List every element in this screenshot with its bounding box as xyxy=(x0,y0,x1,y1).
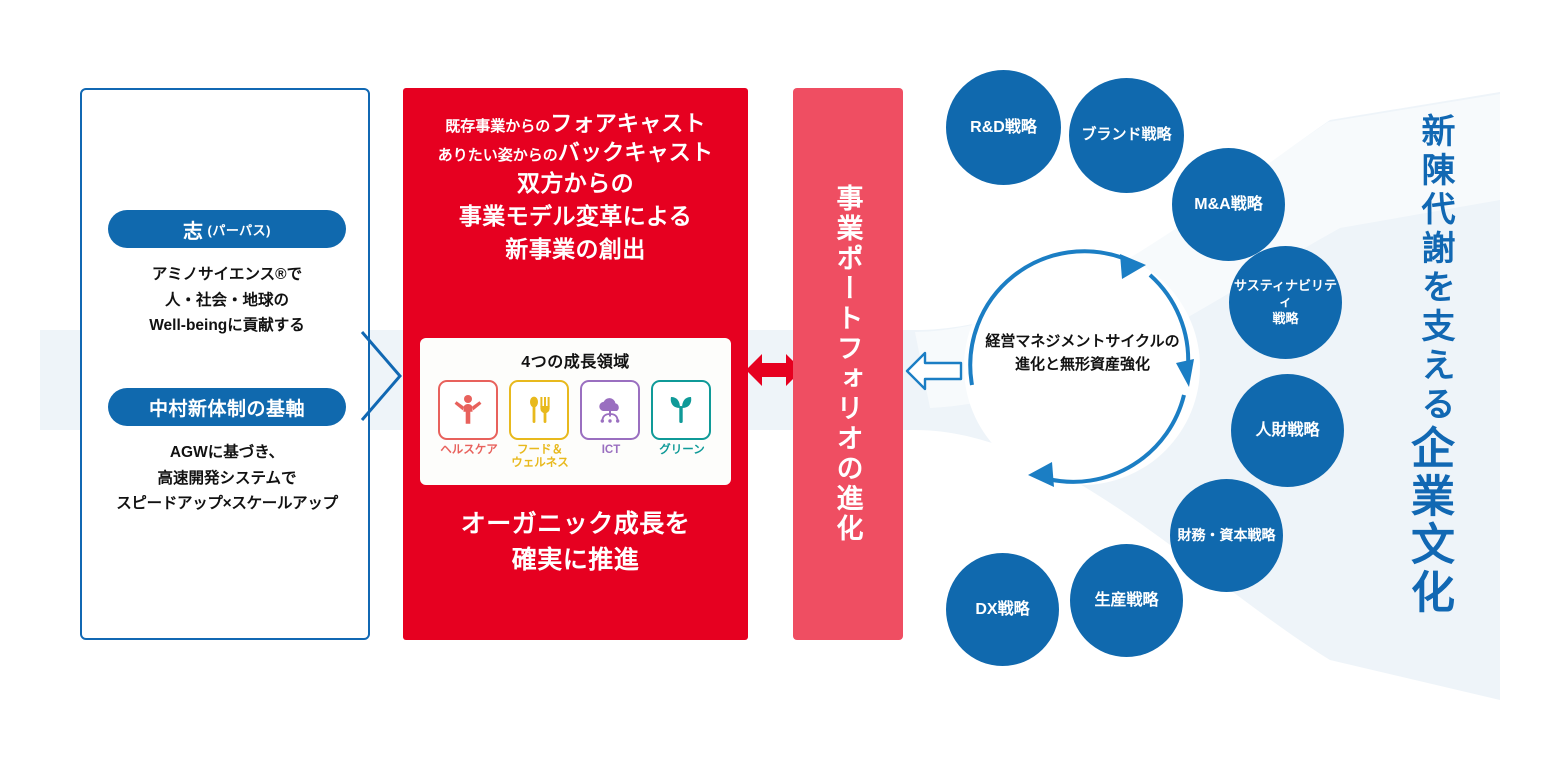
chevron-right-icon xyxy=(360,330,406,422)
strategy-circle-6[interactable]: 財務・資本戦略 xyxy=(1170,479,1283,592)
forecast-line: 既存事業からのフォアキャスト xyxy=(403,110,748,139)
forecast-backcast-block: 既存事業からのフォアキャスト ありたい姿からのバックキャスト 双方からの 事業モ… xyxy=(403,110,748,265)
backcast-line: ありたい姿からのバックキャスト xyxy=(403,139,748,168)
diagram-canvas: 志 (パーパス) アミノサイエンス®で 人・社会・地球の Well-beingに… xyxy=(0,0,1560,761)
strategy-circle-2-label: ブランド戦略 xyxy=(1081,126,1171,145)
policy-line-1: AGWに基づき、 xyxy=(90,440,364,466)
strategy-circle-1[interactable]: R&D戦略 xyxy=(946,70,1061,185)
healthcare-icon-box xyxy=(438,380,498,440)
organic-growth-line-1: オーガニック成長を xyxy=(403,506,748,542)
strategy-circle-3-label: M&A戦略 xyxy=(1194,195,1262,215)
strategy-circle-4-line-1: サスティナビリティ xyxy=(1229,278,1342,311)
ict-label: ICT xyxy=(580,444,642,457)
forecast-emphasis: フォアキャスト xyxy=(550,111,705,136)
forecast-normal: 既存事業からの xyxy=(445,118,550,135)
growth-area-healthcare[interactable]: ヘルスケア xyxy=(438,380,500,470)
growth-strategy-panel: 既存事業からのフォアキャスト ありたい姿からのバックキャスト 双方からの 事業モ… xyxy=(403,88,748,640)
management-cycle-label: 経営マネジメントサイクルの 進化と無形資産強化 xyxy=(950,330,1215,377)
food-label: フード＆ ウェルネス xyxy=(509,444,571,470)
green-icon-box xyxy=(651,380,711,440)
growth-areas-card: 4つの成長領域 ヘルスケア xyxy=(420,338,731,485)
cycle-line-1: 経営マネジメントサイクルの xyxy=(950,330,1215,353)
purpose-panel: 志 (パーパス) アミノサイエンス®で 人・社会・地球の Well-beingに… xyxy=(80,88,370,640)
strategy-circle-3[interactable]: M&A戦略 xyxy=(1172,148,1285,261)
corporate-culture-headline: 新陳代謝を支える 企業文化 xyxy=(1370,95,1460,635)
green-label: グリーン xyxy=(651,444,713,457)
purpose-pill-sub: (パーパス) xyxy=(207,220,271,239)
cycle-line-2: 進化と無形資産強化 xyxy=(950,353,1215,376)
healthcare-label: ヘルスケア xyxy=(438,444,500,457)
portfolio-evolution-label: 事業ポートフォリオの進化 xyxy=(793,88,903,640)
strategy-circle-7-label: 生産戦略 xyxy=(1094,591,1158,611)
strategy-circle-4-line-2: 戦略 xyxy=(1229,311,1342,327)
growth-areas-title: 4つの成長領域 xyxy=(420,338,731,372)
purpose-description: アミノサイエンス®で 人・社会・地球の Well-beingに貢献する xyxy=(90,262,364,339)
strategy-circle-4-label: サスティナビリティ戦略 xyxy=(1229,278,1342,327)
sprout-icon xyxy=(666,394,696,426)
headline-part-2: 企業文化 xyxy=(1396,425,1460,617)
organic-growth-block: オーガニック成長を 確実に推進 xyxy=(403,506,748,579)
backcast-emphasis: バックキャスト xyxy=(558,140,713,165)
strategy-circle-5[interactable]: 人財戦略 xyxy=(1231,374,1344,487)
strategy-circle-6-label: 財務・資本戦略 xyxy=(1178,527,1276,545)
purpose-pill: 志 (パーパス) xyxy=(108,210,346,248)
strategy-circle-7[interactable]: 生産戦略 xyxy=(1070,544,1183,657)
growth-area-green[interactable]: グリーン xyxy=(651,380,713,470)
growth-area-ict[interactable]: ICT xyxy=(580,380,642,470)
backcast-normal: ありたい姿からの xyxy=(438,147,558,164)
strategy-circle-4[interactable]: サスティナビリティ戦略 xyxy=(1229,246,1342,359)
strategy-circle-5-label: 人財戦略 xyxy=(1255,421,1319,441)
strategy-circle-8-label: DX戦略 xyxy=(975,600,1029,620)
strategy-circle-2[interactable]: ブランド戦略 xyxy=(1069,78,1184,193)
spoon-fork-icon xyxy=(524,394,554,426)
policy-pill: 中村新体制の基軸 xyxy=(108,388,346,426)
ict-icon-box xyxy=(580,380,640,440)
headline-line-3: 新事業の創出 xyxy=(403,233,748,266)
person-raising-arms-icon xyxy=(453,394,483,426)
food-icon-box xyxy=(509,380,569,440)
strategy-circle-8[interactable]: DX戦略 xyxy=(946,553,1059,666)
purpose-line-1: アミノサイエンス®で xyxy=(90,262,364,288)
organic-growth-line-2: 確実に推進 xyxy=(403,542,748,578)
strategy-circle-1-label: R&D戦略 xyxy=(970,118,1037,138)
headline-part-1: 新陳代謝を支える xyxy=(1411,113,1460,425)
policy-pill-main: 中村新体制の基軸 xyxy=(149,394,305,421)
policy-description: AGWに基づき、 高速開発システムで スピードアップ×スケールアップ xyxy=(90,440,364,517)
growth-area-food-wellness[interactable]: フード＆ ウェルネス xyxy=(509,380,571,470)
purpose-line-2: 人・社会・地球の xyxy=(90,288,364,314)
food-label-line-2: ウェルネス xyxy=(509,457,571,470)
headline-line-1: 双方からの xyxy=(403,167,748,200)
policy-line-2: 高速開発システムで xyxy=(90,466,364,492)
food-label-line-1: フード＆ xyxy=(509,444,571,457)
purpose-line-3: Well-beingに貢献する xyxy=(90,313,364,339)
purpose-pill-main: 志 xyxy=(183,215,204,244)
portfolio-evolution-bar: 事業ポートフォリオの進化 xyxy=(793,88,903,640)
cloud-network-icon xyxy=(594,395,626,425)
policy-line-3: スピードアップ×スケールアップ xyxy=(90,491,364,517)
growth-areas-row: ヘルスケア xyxy=(420,380,731,470)
headline-line-2: 事業モデル変革による xyxy=(403,200,748,233)
